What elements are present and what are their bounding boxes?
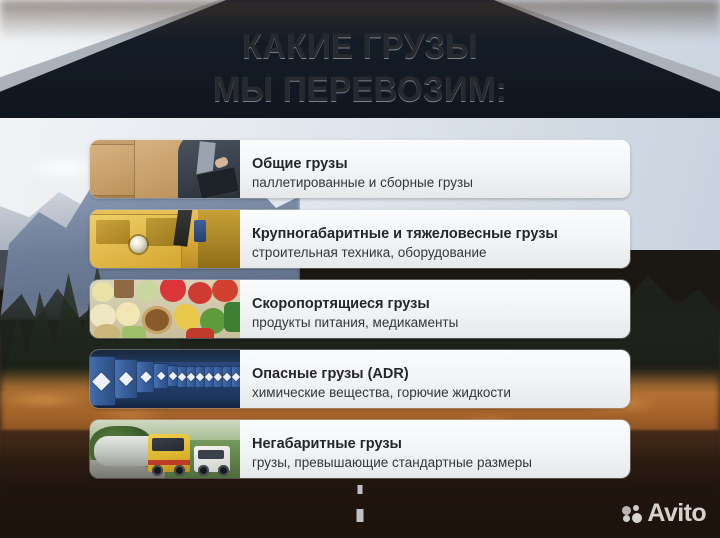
- cargo-subtitle: строительная техника, оборудование: [252, 244, 620, 262]
- list-item[interactable]: Негабаритные грузы грузы, превышающие ст…: [90, 420, 630, 478]
- cargo-thumbnail-perishable: [90, 280, 240, 338]
- cargo-type-list: Общие грузы паллетированные и сборные гр…: [90, 140, 630, 490]
- list-item[interactable]: Скоропортящиеся грузы продукты питания, …: [90, 280, 630, 338]
- cargo-subtitle: химические вещества, горючие жидкости: [252, 384, 620, 402]
- cargo-text-block: Опасные грузы (ADR) химические вещества,…: [240, 350, 630, 408]
- avito-logo-icon: [622, 505, 642, 523]
- cargo-subtitle: продукты питания, медикаменты: [252, 314, 620, 332]
- cargo-text-block: Общие грузы паллетированные и сборные гр…: [240, 140, 630, 198]
- cargo-thumbnail-dangerous-adr: [90, 350, 240, 408]
- cargo-subtitle: паллетированные и сборные грузы: [252, 174, 620, 192]
- promo-banner: КАКИЕ ГРУЗЫ МЫ ПЕРЕВОЗИМ: Общие грузы па…: [0, 0, 720, 538]
- list-item[interactable]: Крупногабаритные и тяжеловесные грузы ст…: [90, 210, 630, 268]
- cargo-thumbnail-oversized-heavy: [90, 210, 240, 268]
- cargo-text-block: Крупногабаритные и тяжеловесные грузы ст…: [240, 210, 630, 268]
- page-title: КАКИЕ ГРУЗЫ МЫ ПЕРЕВОЗИМ:: [22, 26, 699, 111]
- cargo-text-block: Скоропортящиеся грузы продукты питания, …: [240, 280, 630, 338]
- cargo-thumbnail-general: [90, 140, 240, 198]
- cargo-thumbnail-outsized: [90, 420, 240, 478]
- cargo-text-block: Негабаритные грузы грузы, превышающие ст…: [240, 420, 630, 478]
- list-item[interactable]: Опасные грузы (ADR) химические вещества,…: [90, 350, 630, 408]
- page-title-line-2: МЫ ПЕРЕВОЗИМ:: [22, 69, 699, 112]
- road-center-dash: [357, 509, 364, 522]
- page-title-line-1: КАКИЕ ГРУЗЫ: [242, 27, 478, 66]
- cargo-title: Крупногабаритные и тяжеловесные грузы: [252, 225, 620, 243]
- cargo-subtitle: грузы, превышающие стандартные размеры: [252, 454, 620, 472]
- cargo-title: Общие грузы: [252, 155, 620, 173]
- cargo-title: Скоропортящиеся грузы: [252, 295, 620, 313]
- avito-watermark: Avito: [622, 501, 706, 526]
- list-item[interactable]: Общие грузы паллетированные и сборные гр…: [90, 140, 630, 198]
- cargo-title: Негабаритные грузы: [252, 435, 620, 453]
- cargo-title: Опасные грузы (ADR): [252, 365, 620, 383]
- avito-wordmark: Avito: [647, 501, 706, 526]
